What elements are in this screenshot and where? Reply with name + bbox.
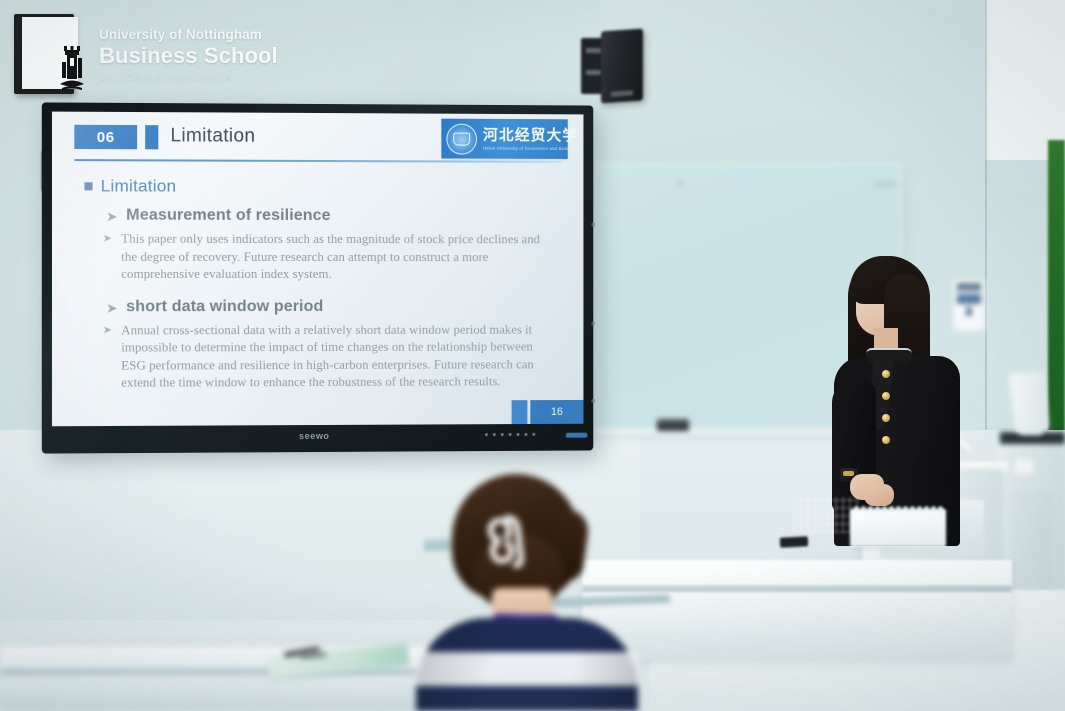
cabinet-sticker xyxy=(1013,458,1035,476)
university-english-name: Hebei University of Economics and Busine… xyxy=(483,146,578,151)
jacket-button xyxy=(882,370,890,378)
location-uk: UK xyxy=(99,72,115,83)
jacket-button xyxy=(882,436,890,444)
slide-heading-text: Limitation xyxy=(101,176,177,196)
slide-body-1: ➤ This paper only uses indicators such a… xyxy=(103,231,554,284)
display-key[interactable] xyxy=(524,433,527,436)
location-malaysia: MALAYSIA xyxy=(173,72,233,83)
slide-section-title: Limitation xyxy=(170,125,255,147)
whiteboard-eraser xyxy=(657,419,689,431)
location-separator-2: | xyxy=(166,72,170,83)
university-crest-icon xyxy=(56,44,88,94)
arrow-bullet-icon: ➤ xyxy=(103,231,112,284)
display-status-led xyxy=(566,433,588,438)
bullet-square-icon xyxy=(84,182,92,190)
slide-university-logo: 河北经贸大学 Hebei University of Economics and… xyxy=(441,119,567,159)
university-seal-icon xyxy=(446,123,477,154)
university-wordmark: University of Nottingham Business School… xyxy=(99,28,309,83)
display-key[interactable] xyxy=(501,433,504,436)
wordmark-locations: UK|CHINA|MALAYSIA xyxy=(99,72,309,83)
wordmark-line-school: Business School xyxy=(99,43,309,68)
cabinet-perforated-panel xyxy=(1010,490,1054,598)
wall-mounted-speaker xyxy=(601,29,643,104)
display-key[interactable] xyxy=(509,433,512,436)
test-tube-rack xyxy=(850,509,946,547)
slide-section-number: 06 xyxy=(74,125,137,149)
slide-subheading-2-text: short data window period xyxy=(126,297,323,317)
display-brand-label: seewo xyxy=(299,431,329,441)
university-chinese-name: 河北经贸大学 xyxy=(483,127,578,144)
slide-heading: Limitation xyxy=(84,176,557,197)
slide-body-1-text: This paper only uses indicators such as … xyxy=(121,231,554,284)
location-china: CHINA xyxy=(125,72,163,83)
slide-body-2: ➤ Annual cross-sectional data with a rel… xyxy=(103,321,554,392)
jacket-button xyxy=(882,392,890,400)
bezel-sensor-dot xyxy=(591,399,595,403)
presentation-slide[interactable]: 06 Limitation 河北经贸大学 Hebei University of… xyxy=(52,112,583,427)
foreground-desk-edge xyxy=(0,668,470,675)
slide-spacer xyxy=(78,283,558,297)
university-logo-text: 河北经贸大学 Hebei University of Economics and… xyxy=(483,127,578,151)
jacket-button xyxy=(882,414,890,422)
bezel-sensor-dot xyxy=(591,222,595,226)
display-key[interactable] xyxy=(493,433,496,436)
slide-header-rule xyxy=(74,159,562,163)
slide-subheading-1-text: Measurement of resilience xyxy=(126,207,330,227)
whiteboard-magnet xyxy=(678,181,683,186)
display-key[interactable] xyxy=(485,433,488,436)
arrow-bullet-icon: ➤ xyxy=(107,298,117,318)
right-wall-panel xyxy=(985,0,1065,160)
slide-subheading-1: ➤ Measurement of resilience xyxy=(107,207,558,228)
location-separator-1: | xyxy=(118,72,122,83)
display-control-keys[interactable] xyxy=(485,433,535,436)
display-key[interactable] xyxy=(517,433,520,436)
whiteboard-corner-label xyxy=(874,182,896,187)
university-logo-plaque xyxy=(22,17,78,89)
slide-body: Limitation ➤ Measurement of resilience ➤… xyxy=(52,168,583,392)
podium-monitor[interactable] xyxy=(1009,370,1049,431)
smartphone-on-desk[interactable] xyxy=(780,536,808,547)
slide-page-number: 16 xyxy=(530,400,583,424)
slide-subheading-2: ➤ short data window period xyxy=(107,297,558,317)
display-screen[interactable]: 06 Limitation 河北经贸大学 Hebei University of… xyxy=(52,112,583,427)
display-key[interactable] xyxy=(532,433,535,436)
arrow-bullet-icon: ➤ xyxy=(107,207,117,227)
seated-student xyxy=(404,474,654,711)
green-wall-strip xyxy=(1048,140,1065,440)
presenter-jacket-buttons xyxy=(882,370,890,458)
lecture-room-photo: University of Nottingham Business School… xyxy=(0,0,1065,711)
slide-body-2-text: Annual cross-sectional data with a relat… xyxy=(121,321,554,392)
slide-footer-accent xyxy=(512,400,528,424)
slide-header-accent-block xyxy=(145,125,158,149)
student-top-shading xyxy=(416,618,638,711)
interactive-flat-panel[interactable]: 06 Limitation 河北经贸大学 Hebei University of… xyxy=(42,102,593,453)
presenter-hand-second xyxy=(864,484,894,506)
speaker-brand-mark xyxy=(611,90,633,97)
hair-clip-icon xyxy=(483,508,531,574)
slide-header: 06 Limitation 河北经贸大学 Hebei University of… xyxy=(52,112,583,170)
bezel-sensor-dot xyxy=(591,322,595,326)
arrow-bullet-icon: ➤ xyxy=(103,322,112,393)
slide-footer: 16 xyxy=(512,400,584,424)
wordmark-line-university: University of Nottingham xyxy=(99,28,309,42)
